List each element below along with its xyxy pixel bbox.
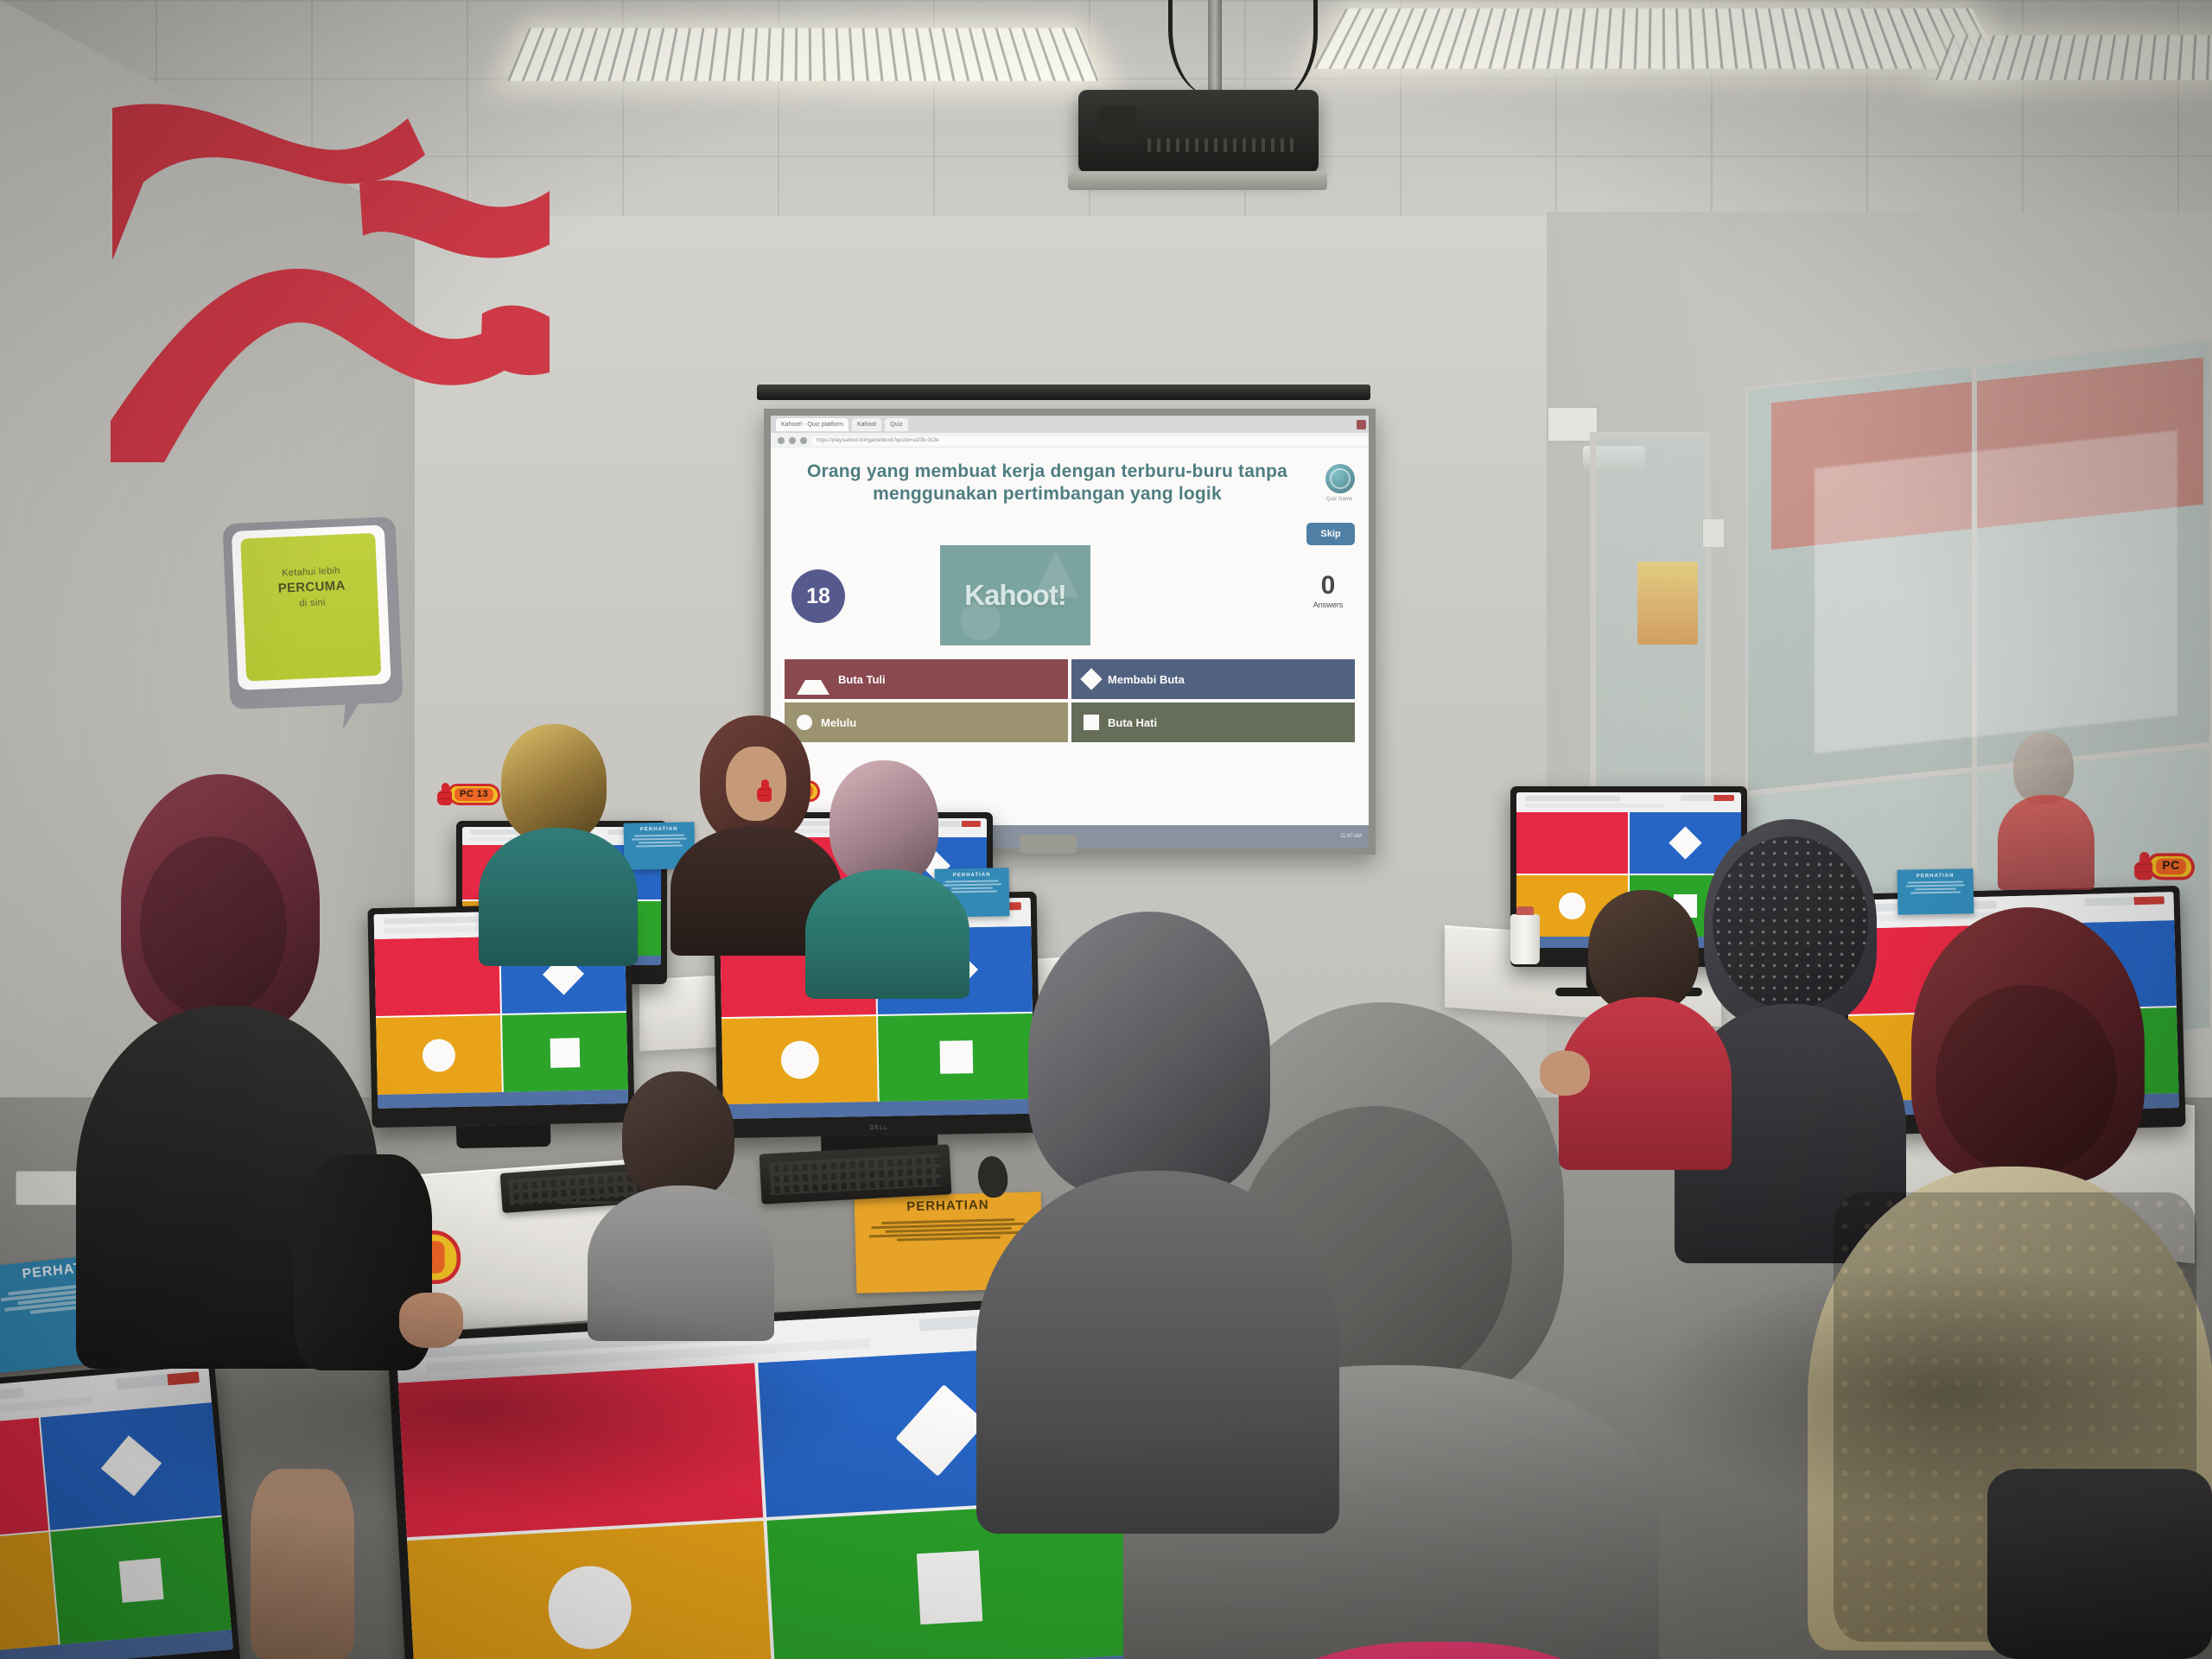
question-media-image: Kahoot! [940, 545, 1090, 645]
browser-address-bar[interactable]: https://play.kahoot.it/#/gameblock?quizI… [771, 433, 1369, 448]
ceiling-projector [1078, 90, 1319, 173]
forward-icon[interactable] [789, 437, 796, 444]
notice-title: PERHATIAN [627, 826, 691, 832]
back-icon[interactable] [778, 437, 785, 444]
circle-icon [546, 1564, 633, 1651]
projector-bracket [1068, 171, 1327, 190]
hijab-fold [140, 836, 287, 1018]
sign-tail [343, 691, 365, 731]
answer-options-grid: Buta Tuli Membabi Buta Melulu Buta [785, 659, 1355, 742]
head [2013, 733, 2074, 804]
circle-icon [797, 715, 812, 730]
quadrant-yellow[interactable] [721, 1016, 878, 1104]
circle-icon [423, 1039, 456, 1072]
client-browser-chrome[interactable] [1516, 792, 1741, 812]
thumbs-up-icon [757, 779, 776, 802]
wall-socket-left [16, 1171, 85, 1205]
client-window-buttons[interactable] [1681, 795, 1734, 801]
pc-label-far-right: PC [2134, 852, 2195, 880]
wall-poster-behind-glass [1637, 562, 1698, 645]
pc-label-pc13: PC 13 [437, 783, 500, 805]
square-icon [916, 1550, 982, 1624]
hand [1540, 1051, 1590, 1096]
bottle-cap [1516, 906, 1533, 915]
globe-icon [1325, 464, 1355, 493]
water-bottle [1510, 914, 1540, 964]
projection-screen-roller [757, 385, 1370, 400]
projection-screen-weight-bar [1020, 835, 1077, 854]
sign-highlight: PERCUMA [277, 578, 346, 595]
answers-count-label: Answers [1301, 601, 1355, 609]
browser-tab-active[interactable]: Kahoot! - Quiz platform [776, 418, 849, 431]
hijab-head [829, 760, 938, 887]
quadrant-red[interactable] [1516, 812, 1628, 874]
ceiling-light-left [507, 29, 1100, 81]
glass-reflection-screen [1815, 430, 2177, 753]
client-tab[interactable] [1525, 796, 1619, 801]
square-icon [550, 1038, 581, 1068]
notice-blue-far-right: PERHATIAN [1897, 868, 1974, 915]
quadrant-green[interactable] [50, 1516, 232, 1644]
triangle-icon [797, 664, 829, 695]
light-diffuser-slats [1935, 35, 2212, 80]
answer-option-green-label: Buta Hati [1108, 716, 1157, 729]
notice-body [1901, 880, 1970, 893]
ceiling-light-right [1314, 9, 2005, 69]
light-diffuser-slats [1314, 9, 2005, 69]
url-input[interactable]: https://play.kahoot.it/#/gameblock?quizI… [811, 436, 1369, 446]
diamond-icon [1669, 827, 1701, 860]
answer-option-yellow-label: Melulu [821, 716, 856, 729]
answer-option-yellow[interactable]: Melulu [785, 702, 1068, 742]
keyboard-center[interactable] [760, 1144, 952, 1204]
notice-body [627, 834, 691, 847]
notice-title: PERHATIAN [1901, 873, 1970, 879]
answer-option-green[interactable]: Buta Hati [1071, 702, 1355, 742]
taskbar-clock: 11:47 AM [1340, 833, 1362, 840]
client-tab[interactable] [384, 916, 489, 925]
monitor-brand: DELL [869, 1125, 888, 1131]
quadrant-green[interactable] [502, 1013, 628, 1092]
client-url[interactable] [1525, 804, 1664, 808]
hijab-head [501, 724, 607, 843]
wall-decal-red-waves [104, 82, 553, 462]
hijab-head [1028, 912, 1270, 1197]
thumb-lines [439, 792, 450, 803]
notice-title: PERHATIAN [858, 1196, 1038, 1215]
head [1588, 890, 1699, 1013]
quadrant-green[interactable] [878, 1013, 1034, 1101]
window-close-button[interactable] [1357, 420, 1366, 429]
wall-socket-right [1702, 518, 1725, 548]
diamond-icon [1080, 668, 1102, 690]
pc-label-text: PC [2156, 858, 2186, 874]
pc-label-text: PC 13 [454, 788, 493, 801]
answer-option-red-label: Buta Tuli [838, 673, 886, 686]
reload-icon[interactable] [800, 437, 807, 444]
light-diffuser-slats [507, 29, 1100, 81]
shadow-right [1642, 1262, 2212, 1521]
answer-option-blue-label: Membabi Buta [1108, 673, 1185, 686]
thumb-lines [2137, 864, 2151, 877]
shoulders [1998, 795, 2094, 890]
globe-label: Quiz Game [1317, 497, 1362, 502]
quadrant-yellow[interactable] [407, 1521, 772, 1659]
diamond-icon [895, 1384, 986, 1477]
answer-option-red[interactable]: Buta Tuli [785, 659, 1068, 699]
notice-title: PERHATIAN [938, 872, 1006, 878]
square-icon [118, 1558, 163, 1603]
hijab-dot-pattern [1713, 836, 1868, 1009]
circle-icon [1559, 893, 1586, 919]
browser-tab-third[interactable]: Quiz [885, 418, 907, 431]
client-window-buttons[interactable] [2085, 896, 2164, 906]
face [726, 747, 786, 821]
sign-text: Ketahui lebih PERCUMA di sini [225, 562, 399, 615]
countdown-timer: 18 [791, 569, 845, 623]
thumbs-up-icon [437, 783, 456, 805]
square-icon [1084, 715, 1099, 730]
circle-icon [780, 1040, 819, 1079]
shoulders [976, 1171, 1339, 1534]
quiz-question: Orang yang membuat kerja dengan terburu-… [800, 461, 1294, 505]
shoulders [805, 869, 969, 999]
head [622, 1071, 734, 1201]
shoulders [479, 828, 638, 966]
ceiling-light-far-right [1935, 35, 2212, 80]
square-icon [939, 1040, 973, 1074]
projector-lens-icon [1097, 105, 1137, 143]
wall-sign-speech-bubble: Ketahui lebih PERCUMA di sini [222, 517, 403, 710]
quadrant-yellow[interactable] [0, 1532, 59, 1659]
hijab-fold [1935, 985, 2117, 1175]
thumbs-up-icon [2134, 852, 2158, 880]
answer-option-blue[interactable]: Membabi Buta [1071, 659, 1355, 699]
skip-button[interactable]: Skip [1306, 523, 1355, 545]
projector-vents [1147, 138, 1298, 152]
kahoot-logo-text: Kahoot! [964, 579, 1066, 612]
shadow-under-desks [86, 1296, 864, 1521]
classroom-scene: Ketahui lebih PERCUMA di sini Kahoot! - … [0, 0, 2212, 1659]
triangle-icon [437, 961, 438, 992]
triangle-icon [798, 955, 798, 991]
monitor-stand [456, 1124, 551, 1148]
answers-counter: 0 Answers [1301, 573, 1355, 609]
answers-count-value: 0 [1301, 573, 1355, 599]
quadrant-yellow[interactable] [376, 1015, 502, 1095]
browser-tab-second[interactable]: Kahoot [852, 418, 881, 431]
browser-tab-strip[interactable]: Kahoot! - Quiz platform Kahoot Quiz [771, 416, 1369, 433]
thumb-lines [759, 789, 770, 799]
